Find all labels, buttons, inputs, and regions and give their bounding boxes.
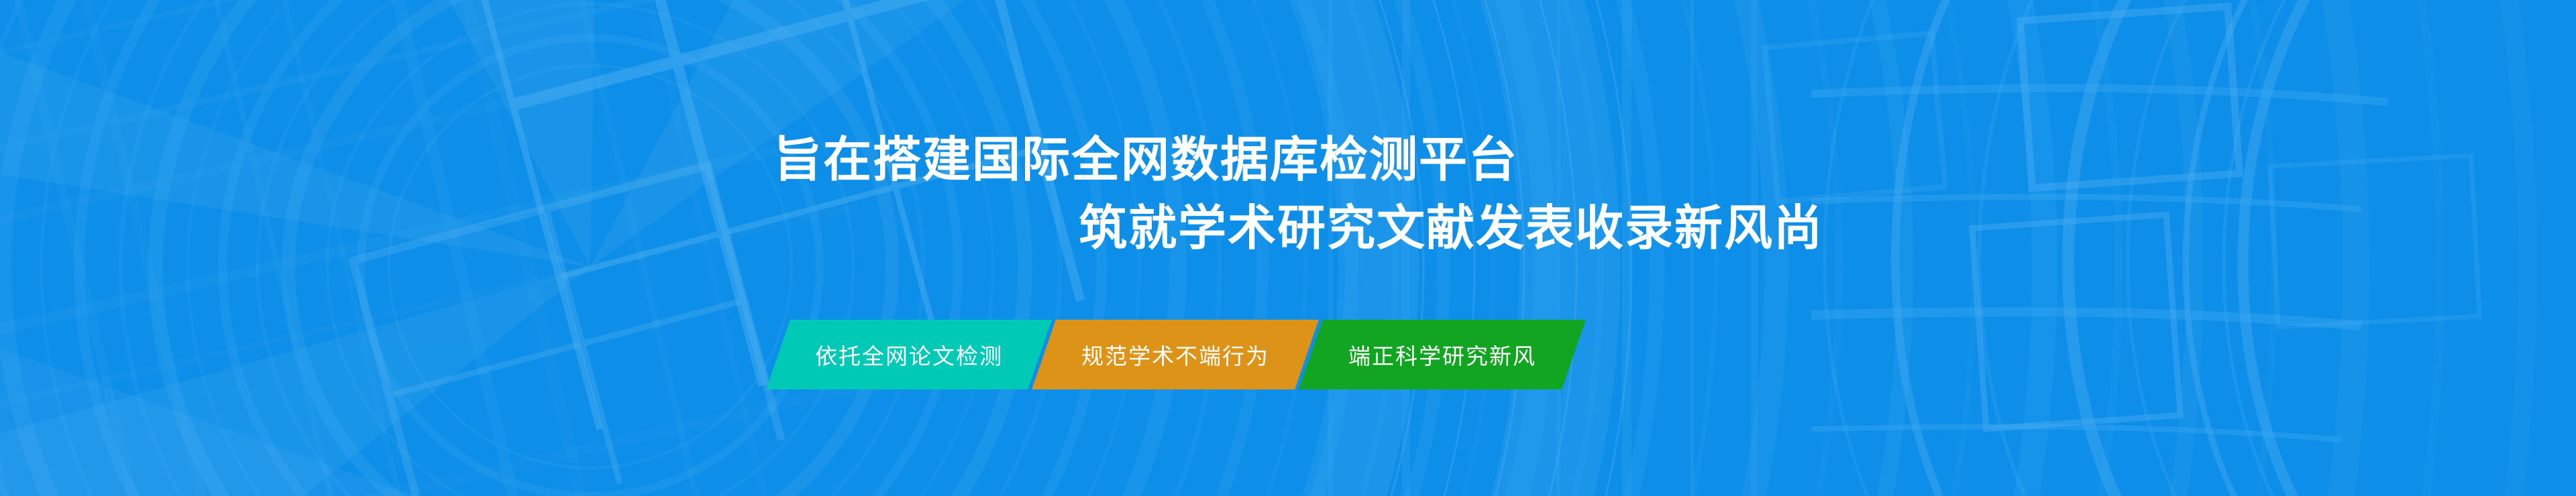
background-pattern-svg	[0, 0, 2576, 496]
headline-line-2: 筑就学术研究文献发表收录新风尚	[1079, 194, 2576, 263]
feature-tag-label: 依托全网论文检测	[815, 338, 1003, 371]
feature-tag-academic-misconduct[interactable]: 规范学术不端行为	[1032, 320, 1319, 389]
hero-banner: 旨在搭建国际全网数据库检测平台 筑就学术研究文献发表收录新风尚 依托全网论文检测…	[0, 0, 2576, 496]
feature-tag-research-ethos[interactable]: 端正科学研究新风	[1299, 320, 1586, 389]
headline-line-1: 旨在搭建国际全网数据库检测平台	[773, 126, 2576, 194]
background-decoration	[0, 0, 2576, 496]
feature-tag-label: 规范学术不端行为	[1081, 338, 1269, 371]
headline-group: 旨在搭建国际全网数据库检测平台 筑就学术研究文献发表收录新风尚	[0, 126, 2576, 263]
feature-tag-paper-detection[interactable]: 依托全网论文检测	[766, 320, 1052, 389]
feature-tag-row: 依托全网论文检测 规范学术不端行为 端正科学研究新风	[778, 320, 1578, 389]
feature-tag-label: 端正科学研究新风	[1348, 338, 1536, 371]
